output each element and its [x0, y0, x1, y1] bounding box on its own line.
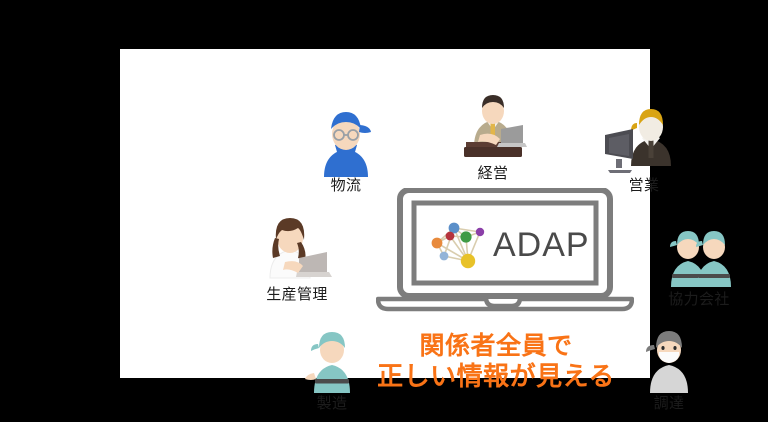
node-red [446, 232, 455, 241]
two-workers-teal-icon [639, 217, 759, 291]
persona-label: 物流 [286, 177, 406, 194]
adap-wordmark: ADAP [493, 226, 590, 264]
monitor [605, 129, 633, 173]
node-purple [476, 228, 484, 236]
persona-label: 調達 [609, 395, 729, 412]
worker-gray-mask-icon [609, 321, 729, 395]
persona-kyouryoku: 協力会社 [639, 217, 759, 308]
headline-line-1: 関係者全員で [372, 331, 620, 362]
persona-butsuryu: 物流 [286, 103, 406, 194]
persona-seisan: 生産管理 [237, 212, 357, 303]
salesperson-at-monitor-icon [584, 103, 704, 177]
laptop-svg: ADAP [376, 188, 634, 320]
persona-label: 営業 [584, 177, 704, 194]
persona-keiei: 経営 [433, 91, 553, 182]
executive-at-desk-laptop-icon [433, 91, 553, 165]
worker-right [696, 231, 731, 287]
woman-with-laptop-icon [237, 212, 357, 286]
node-orange [432, 238, 443, 249]
persona-label: 経営 [433, 165, 553, 182]
node-lightblue [440, 252, 449, 261]
headline-message: 関係者全員で 正しい情報が見える [372, 331, 620, 393]
persona-label: 生産管理 [237, 286, 357, 303]
persona-label: 協力会社 [639, 291, 759, 308]
node-yellow [461, 254, 475, 268]
worker-blue-cap-glasses-icon [286, 103, 406, 177]
persona-choutatsu: 調達 [609, 321, 729, 412]
white-content-panel: ADAP [120, 49, 650, 378]
headline-line-2: 正しい情報が見える [372, 362, 620, 394]
persona-eigyou: 営業 [584, 103, 704, 194]
slide-canvas: ADAP [0, 0, 768, 422]
persona-label: 製造 [272, 395, 392, 412]
laptop-base [378, 299, 632, 309]
node-green [460, 231, 471, 242]
laptop-illustration: ADAP [376, 188, 634, 320]
